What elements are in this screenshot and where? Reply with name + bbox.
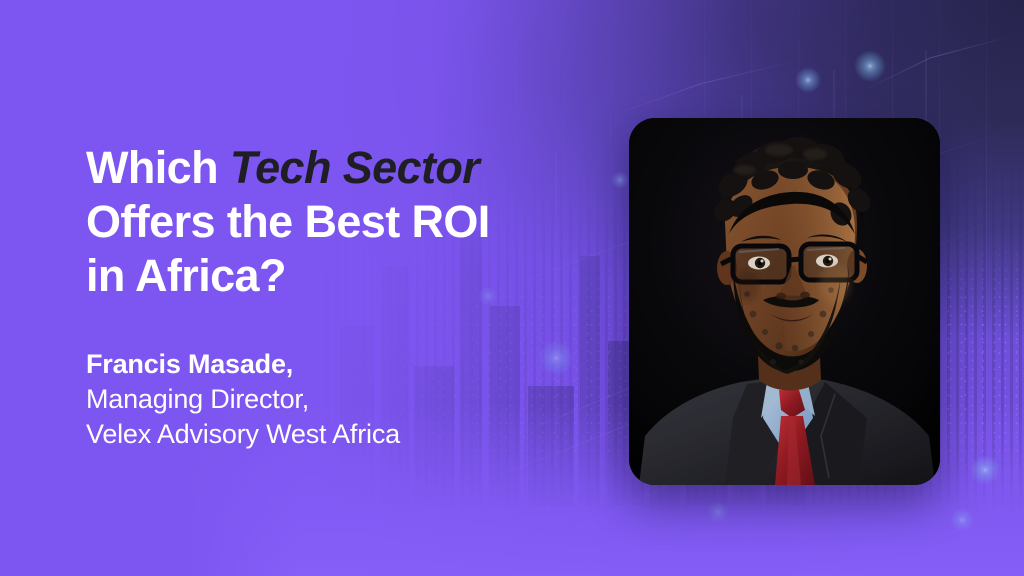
speaker-portrait-card: [629, 118, 940, 485]
speaker-byline: Francis Masade, Managing Director, Velex…: [86, 347, 556, 452]
headline-line2: Offers the Best ROI: [86, 196, 490, 247]
speaker-name: Francis Masade,: [86, 347, 556, 382]
presentation-slide: Which Tech Sector Offers the Best ROI in…: [0, 0, 1024, 576]
avatar: [629, 118, 940, 485]
headline-line1-prefix: Which: [86, 142, 230, 193]
headline-emphasis-tech-sector: Tech Sector: [230, 142, 479, 193]
speaker-organization: Velex Advisory West Africa: [86, 417, 556, 452]
page-title: Which Tech Sector Offers the Best ROI in…: [86, 141, 556, 303]
headline-line3: in Africa?: [86, 250, 286, 301]
speaker-role: Managing Director,: [86, 382, 556, 417]
